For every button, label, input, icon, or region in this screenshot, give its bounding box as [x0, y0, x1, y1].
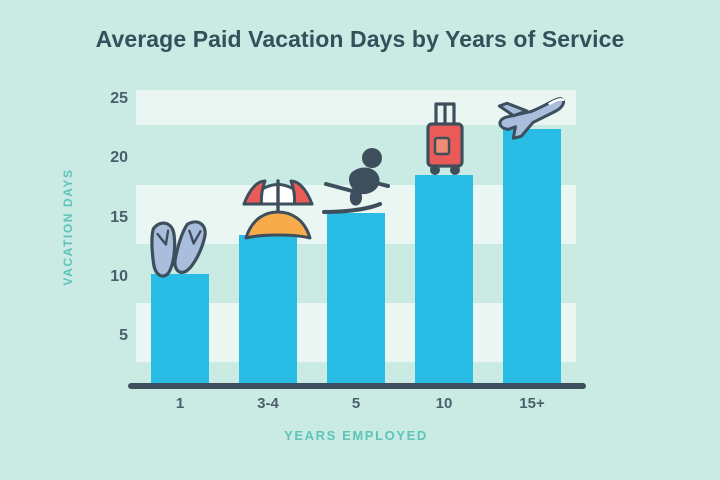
- bar-1[interactable]: [151, 274, 209, 385]
- chart-page: Average Paid Vacation Days by Years of S…: [0, 0, 720, 480]
- y-tick-25: 25: [94, 90, 128, 108]
- x-axis-title: YEARS EMPLOYED: [136, 428, 576, 443]
- bar-10[interactable]: [415, 175, 473, 385]
- x-tick-1: 1: [136, 395, 224, 412]
- bars-layer: [136, 90, 576, 385]
- x-tick-15plus: 15+: [488, 395, 576, 412]
- x-axis-ticks: 1 3-4 5 10 15+: [136, 395, 576, 419]
- y-tick-20: 20: [94, 149, 128, 167]
- bar-3-4[interactable]: [239, 235, 297, 385]
- y-axis-title: VACATION DAYS: [61, 147, 75, 307]
- x-tick-3-4: 3-4: [224, 395, 312, 412]
- axis-baseline: [128, 383, 586, 389]
- y-tick-5: 5: [94, 327, 128, 345]
- y-axis-ticks: 25 20 15 10 5: [94, 0, 128, 480]
- y-tick-15: 15: [94, 209, 128, 227]
- bar-5[interactable]: [327, 213, 385, 385]
- x-tick-10: 10: [400, 395, 488, 412]
- y-tick-10: 10: [94, 268, 128, 286]
- x-tick-5: 5: [312, 395, 400, 412]
- bar-15plus[interactable]: [503, 129, 561, 385]
